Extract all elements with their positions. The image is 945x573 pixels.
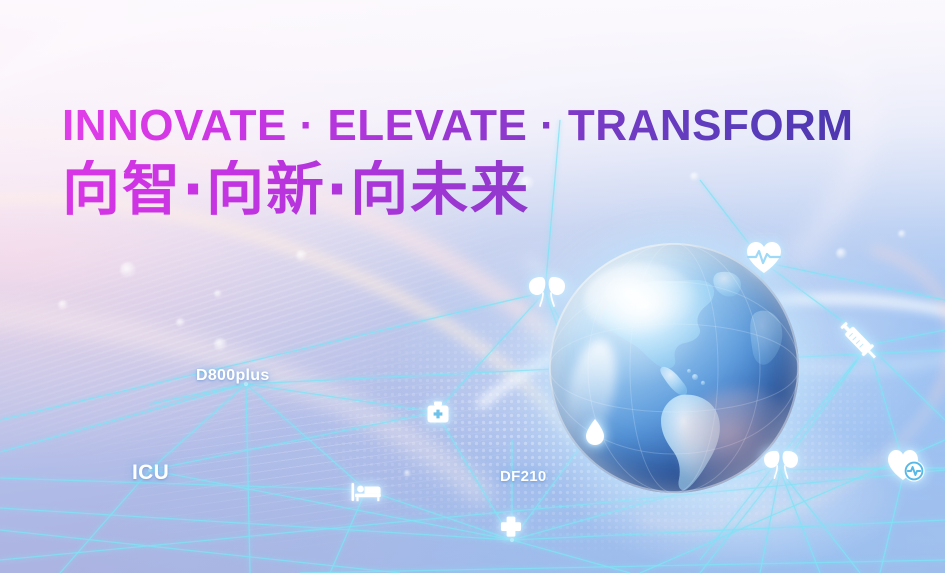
heart-monitor-icon[interactable] bbox=[886, 447, 926, 483]
network-label-df210: DF210 bbox=[500, 468, 547, 485]
network-label-d800plus: D800plus bbox=[196, 367, 270, 385]
kidneys-icon[interactable] bbox=[762, 448, 800, 482]
water-drop-icon[interactable] bbox=[584, 418, 606, 446]
headline-chinese: 向智·向新·向未来 bbox=[62, 160, 854, 218]
headline-block: INNOVATE · ELEVATE · TRANSFORM 向智·向新·向未来 bbox=[62, 104, 854, 218]
medical-bag-icon[interactable] bbox=[426, 400, 450, 424]
hospital-bed-icon[interactable] bbox=[351, 481, 381, 503]
medical-cross-icon[interactable] bbox=[500, 515, 522, 537]
hero-banner: D800plus ICU DF210 INNOVATE · ELEVATE · … bbox=[0, 0, 945, 573]
headline-english: INNOVATE · ELEVATE · TRANSFORM bbox=[62, 104, 854, 148]
kidneys-icon[interactable] bbox=[527, 274, 567, 310]
heart-pulse-icon[interactable] bbox=[745, 240, 783, 274]
network-label-icu: ICU bbox=[132, 461, 169, 485]
